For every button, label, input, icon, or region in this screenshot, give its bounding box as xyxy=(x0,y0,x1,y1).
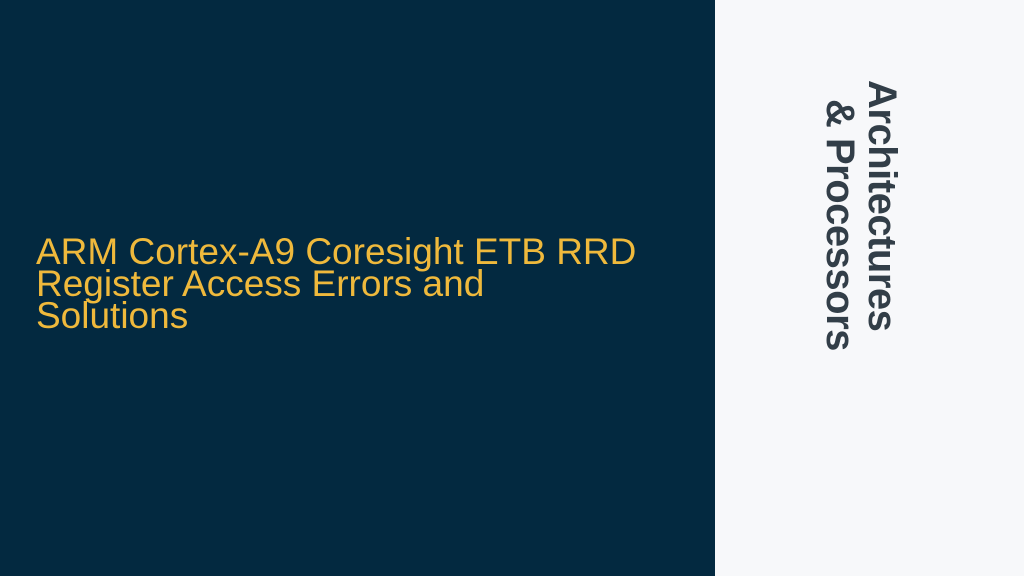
vertical-label-line-architectures: Architectures xyxy=(862,80,902,331)
vertical-label-line-processors: & Processors xyxy=(820,99,860,351)
title-block: ARM Cortex-A9 Coresight ETB RRD Register… xyxy=(36,236,696,332)
side-panel: Architectures & Processors xyxy=(715,0,1024,576)
slide-canvas: ARM Cortex-A9 Coresight ETB RRD Register… xyxy=(0,0,1024,576)
vertical-category-label: Architectures & Processors xyxy=(715,0,1024,576)
page-title: ARM Cortex-A9 Coresight ETB RRD Register… xyxy=(36,236,696,332)
